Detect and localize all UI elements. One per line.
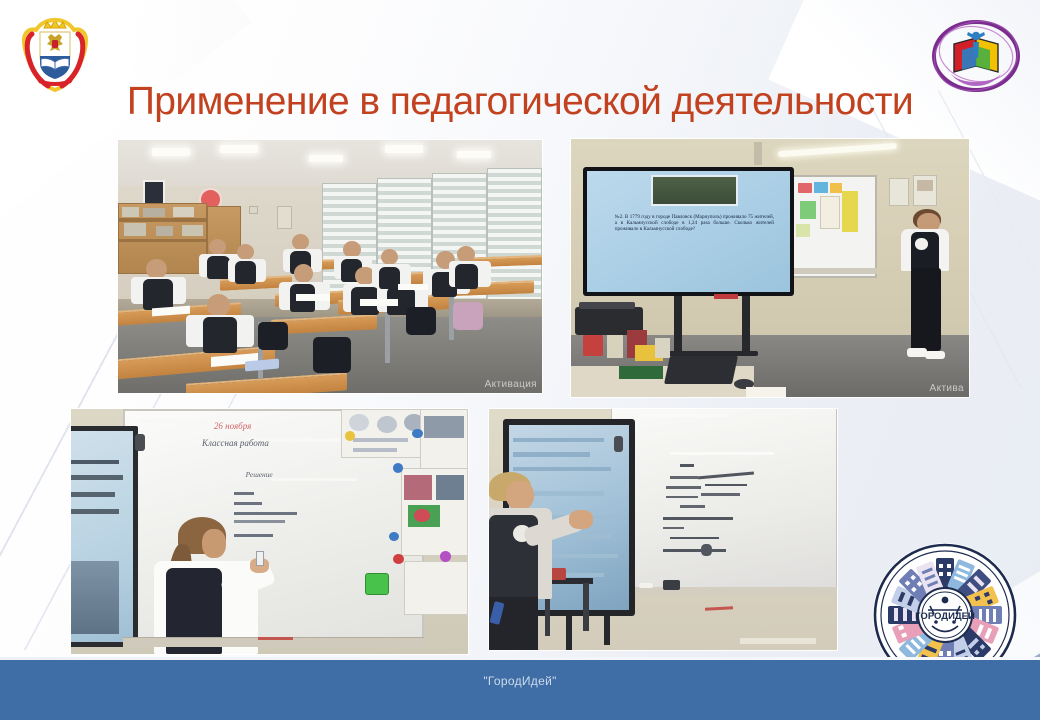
interactive-board-problem-text: №2. В 1779 году в городе Павловск (Мариу… <box>615 214 774 233</box>
whiteboard-subheading: Решение <box>246 470 273 479</box>
photo-classroom-students-at-desks: Активация <box>118 140 542 393</box>
photo-boy-explaining-at-interactive-panel <box>489 409 837 650</box>
footer-text: "ГородИдей" <box>0 674 1040 688</box>
photo-student-writing-on-whiteboard: 26 ноября Классная работа Решение <box>71 409 468 654</box>
footer-bar: "ГородИдей" <box>0 660 1040 720</box>
photo-student-presenting-at-interactive-board: №2. В 1779 году в городе Павловск (Мариу… <box>571 139 969 397</box>
page-title: Применение в педагогической деятельности <box>0 80 1040 124</box>
whiteboard-heading: Классная работа <box>202 438 269 448</box>
badge-label: ГОРОДИДЕЙ <box>915 610 975 622</box>
slide-canvas: ····· Применение в педагогической деятел… <box>0 0 1040 720</box>
whiteboard-date: 26 ноября <box>214 421 251 431</box>
